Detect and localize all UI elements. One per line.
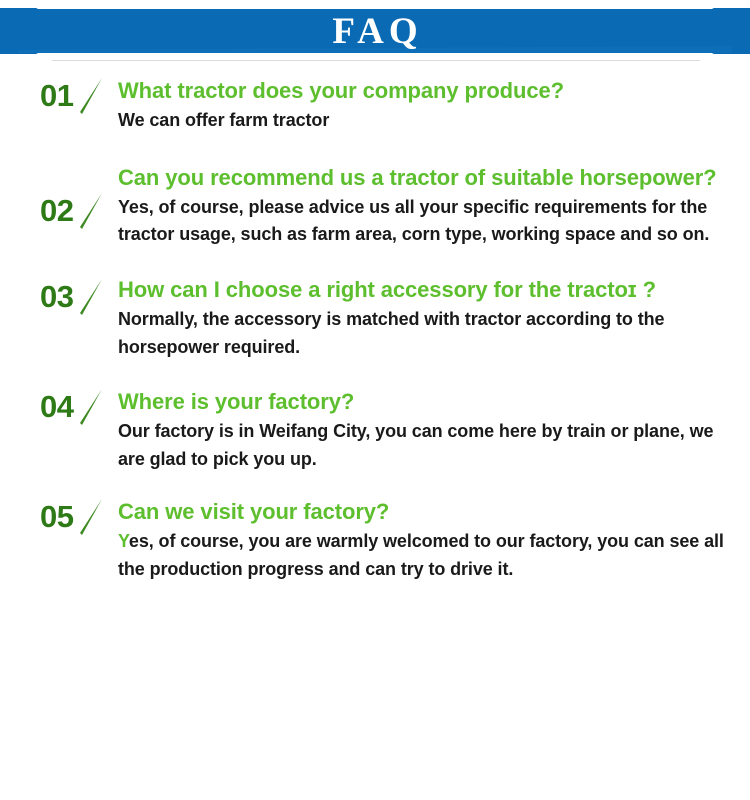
faq-item: 01 What tractor does your company produc… [0, 76, 750, 135]
faq-question: Can we visit your factory? [118, 497, 740, 527]
faq-answer: Normally, the accessory is matched with … [118, 306, 740, 361]
faq-number-text: 05 [40, 499, 73, 534]
faq-answer: Our factory is in Weifang City, you can … [118, 418, 740, 473]
faq-answer: We can offer farm tractor [118, 107, 740, 134]
faq-question: How can I choose a right accessory for t… [118, 275, 740, 305]
faq-list: 01 What tractor does your company produc… [0, 62, 750, 583]
leaf-slash-icon [76, 277, 106, 317]
faq-number-text: 01 [40, 78, 73, 113]
faq-item: 02 Can you recommend us a tractor of sui… [0, 163, 750, 249]
faq-number: 01 [40, 74, 118, 118]
faq-answer: Yes, of course, please advice us all you… [118, 194, 740, 249]
faq-question: Can you recommend us a tractor of suitab… [118, 163, 740, 193]
faq-question: What tractor does your company produce? [118, 76, 740, 106]
ribbon-shape [0, 8, 750, 54]
leaf-slash-icon [76, 191, 106, 231]
faq-answer-text: es, of course, you are warmly welcomed t… [118, 531, 724, 578]
faq-number: 02 [40, 189, 118, 233]
faq-number: 03 [40, 275, 118, 319]
faq-content: How can I choose a right accessory for t… [118, 275, 740, 361]
header-divider [52, 60, 700, 61]
faq-item: 05 Can we visit your factory? Yes, of co… [0, 497, 750, 583]
faq-item: 03 How can I choose a right accessory fo… [0, 275, 750, 361]
faq-answer-lead-letter: Y [118, 531, 129, 551]
faq-item: 04 Where is your factory? Our factory is… [0, 387, 750, 473]
faq-number: 04 [40, 385, 118, 429]
faq-answer: Yes, of course, you are warmly welcomed … [118, 528, 740, 583]
faq-question: Where is your factory? [118, 387, 740, 417]
faq-number: 05 [40, 495, 118, 539]
leaf-slash-icon [76, 497, 106, 537]
leaf-slash-icon [76, 387, 106, 427]
faq-banner: FAQ [0, 0, 750, 62]
faq-content: Can you recommend us a tractor of suitab… [118, 163, 740, 249]
faq-content: Can we visit your factory? Yes, of cours… [118, 497, 740, 583]
faq-number-text: 03 [40, 279, 73, 314]
leaf-slash-icon [76, 76, 106, 116]
faq-number-text: 04 [40, 389, 73, 424]
faq-number-text: 02 [40, 193, 73, 228]
faq-content: What tractor does your company produce? … [118, 76, 740, 135]
faq-content: Where is your factory? Our factory is in… [118, 387, 740, 473]
